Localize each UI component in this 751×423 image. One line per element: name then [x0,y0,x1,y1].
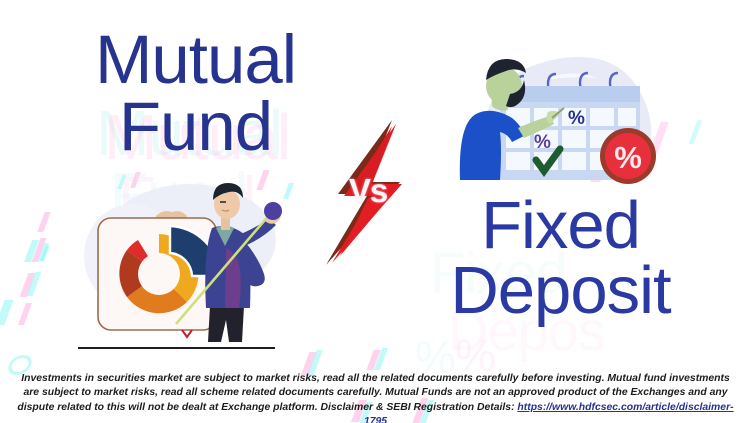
badge-percent-symbol: % [614,140,642,175]
pointer-sphere [264,202,282,220]
percent-badge: % [600,128,656,184]
disclaimer-text: Investments in securities market are sub… [14,372,737,423]
versus-label: Vs [318,172,418,210]
accent-chevron [182,330,192,337]
glitch-sliver [0,300,14,325]
glitch-sliver [38,243,50,261]
illustration-mutual-fund [70,178,295,360]
illustration-fixed-deposit: % % % [448,28,670,206]
glitch-sliver [689,120,703,144]
versus-badge: Vs [318,120,418,265]
glitch-sliver [24,240,39,262]
glitch-sliver [20,273,36,297]
title-line-2: Deposit [450,253,670,328]
title-line-2: Fund [119,88,272,165]
glitch-sliver [27,272,42,296]
trousers [208,306,244,342]
glitch-sliver [374,348,388,370]
title-line-1: Fixed [481,188,640,263]
glitch-sliver [37,212,50,232]
percent-symbol-navy: % [568,108,585,129]
comparison-graphic: Mutual Mutual Fund Fund Fixed Depos % % [0,0,751,423]
glitch-sliver [366,350,380,370]
page-title-fixed-deposit: FixedDeposit [418,193,703,323]
page-title-mutual-fund: MutualFund [88,27,303,161]
glitch-sliver [18,303,32,325]
title-line-1: Mutual [95,21,296,98]
percent-symbol-purple: % [534,132,551,153]
glitch-sliver [32,238,47,262]
glitch-sliver [40,246,49,261]
